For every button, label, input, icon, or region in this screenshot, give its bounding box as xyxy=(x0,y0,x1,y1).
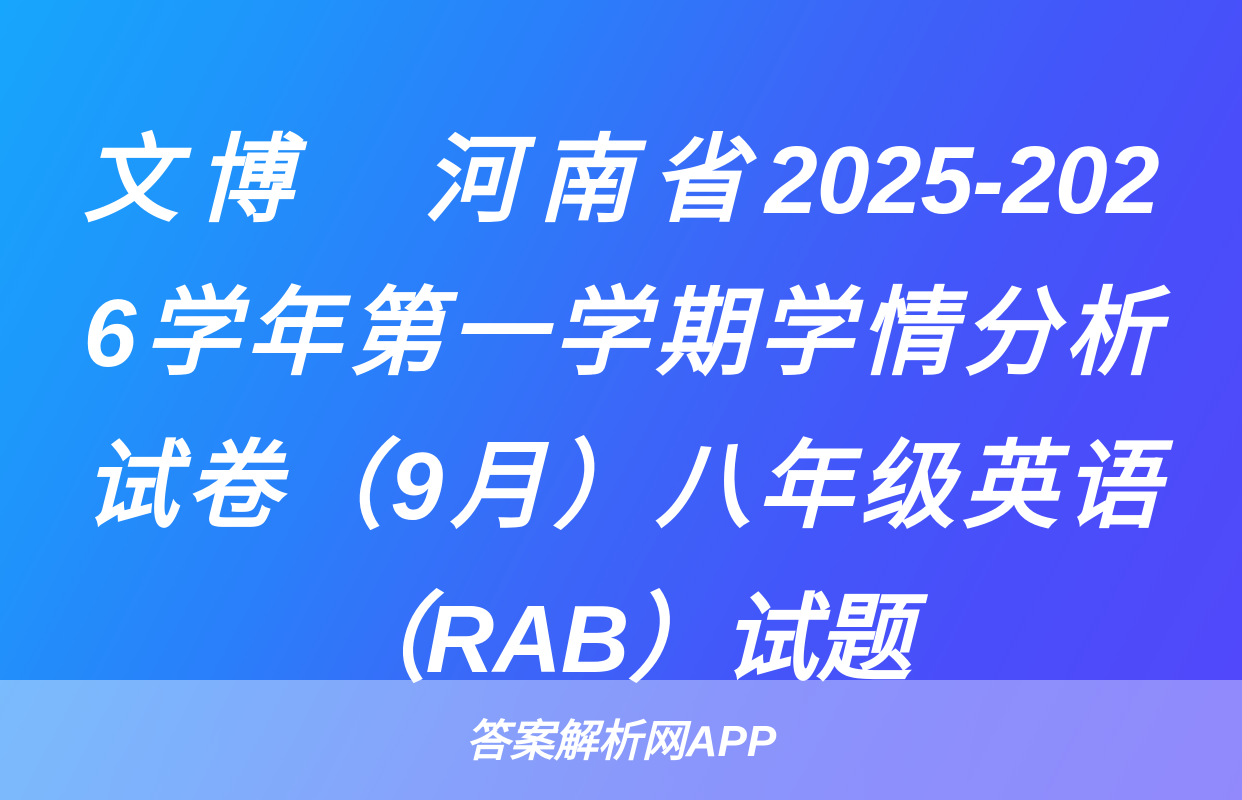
poster-title-line-3: 试卷（9月）八年级英语 xyxy=(83,410,1158,563)
footer-brand-band: 答案解析网APP xyxy=(0,680,1242,800)
poster-title-line-1: 文博 河南省2025-202 xyxy=(83,104,1158,257)
exam-paper-cover-poster: 文博 河南省2025-202 6学年第一学期学情分析 试卷（9月）八年级英语 （… xyxy=(0,0,1242,800)
footer-brand-label: 答案解析网APP xyxy=(466,720,776,764)
poster-title-line-2: 6学年第一学期学情分析 xyxy=(83,257,1158,410)
poster-title-block: 文博 河南省2025-202 6学年第一学期学情分析 试卷（9月）八年级英语 （… xyxy=(0,104,1242,716)
